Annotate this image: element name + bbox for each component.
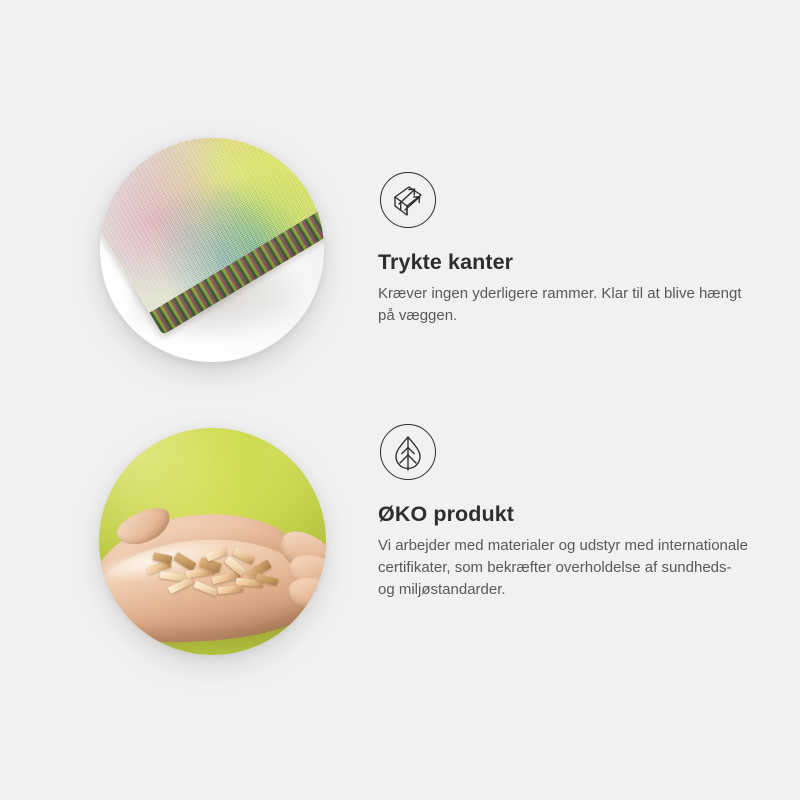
feature-text-block: Trykte kanter Kræver ingen yderligere ra…: [378, 172, 758, 327]
feature-description: Vi arbejder med materialer og udstyr med…: [378, 535, 750, 601]
feature-row-printed-edges: Trykte kanter Kræver ingen yderligere ra…: [0, 120, 800, 390]
canvas-print-corner-photo: [100, 138, 324, 362]
eco-product-image: [99, 428, 326, 655]
printed-edges-icon: [380, 172, 436, 228]
feature-title: ØKO produkt: [378, 502, 758, 528]
leaf-icon: [380, 424, 436, 480]
feature-title: Trykte kanter: [378, 250, 758, 276]
feature-row-eco-product: ØKO produkt Vi arbejder med materialer o…: [0, 410, 800, 680]
cupped-hands: [99, 510, 326, 646]
hands-holding-wood-chips-photo: [99, 428, 326, 655]
canvas-print-image: [100, 138, 324, 362]
feature-text-block: ØKO produkt Vi arbejder med materialer o…: [378, 424, 758, 601]
wood-chip-pile: [141, 545, 288, 605]
feature-description: Kræver ingen yderligere rammer. Klar til…: [378, 283, 750, 327]
product-features-panel: Trykte kanter Kræver ingen yderligere ra…: [0, 0, 800, 800]
